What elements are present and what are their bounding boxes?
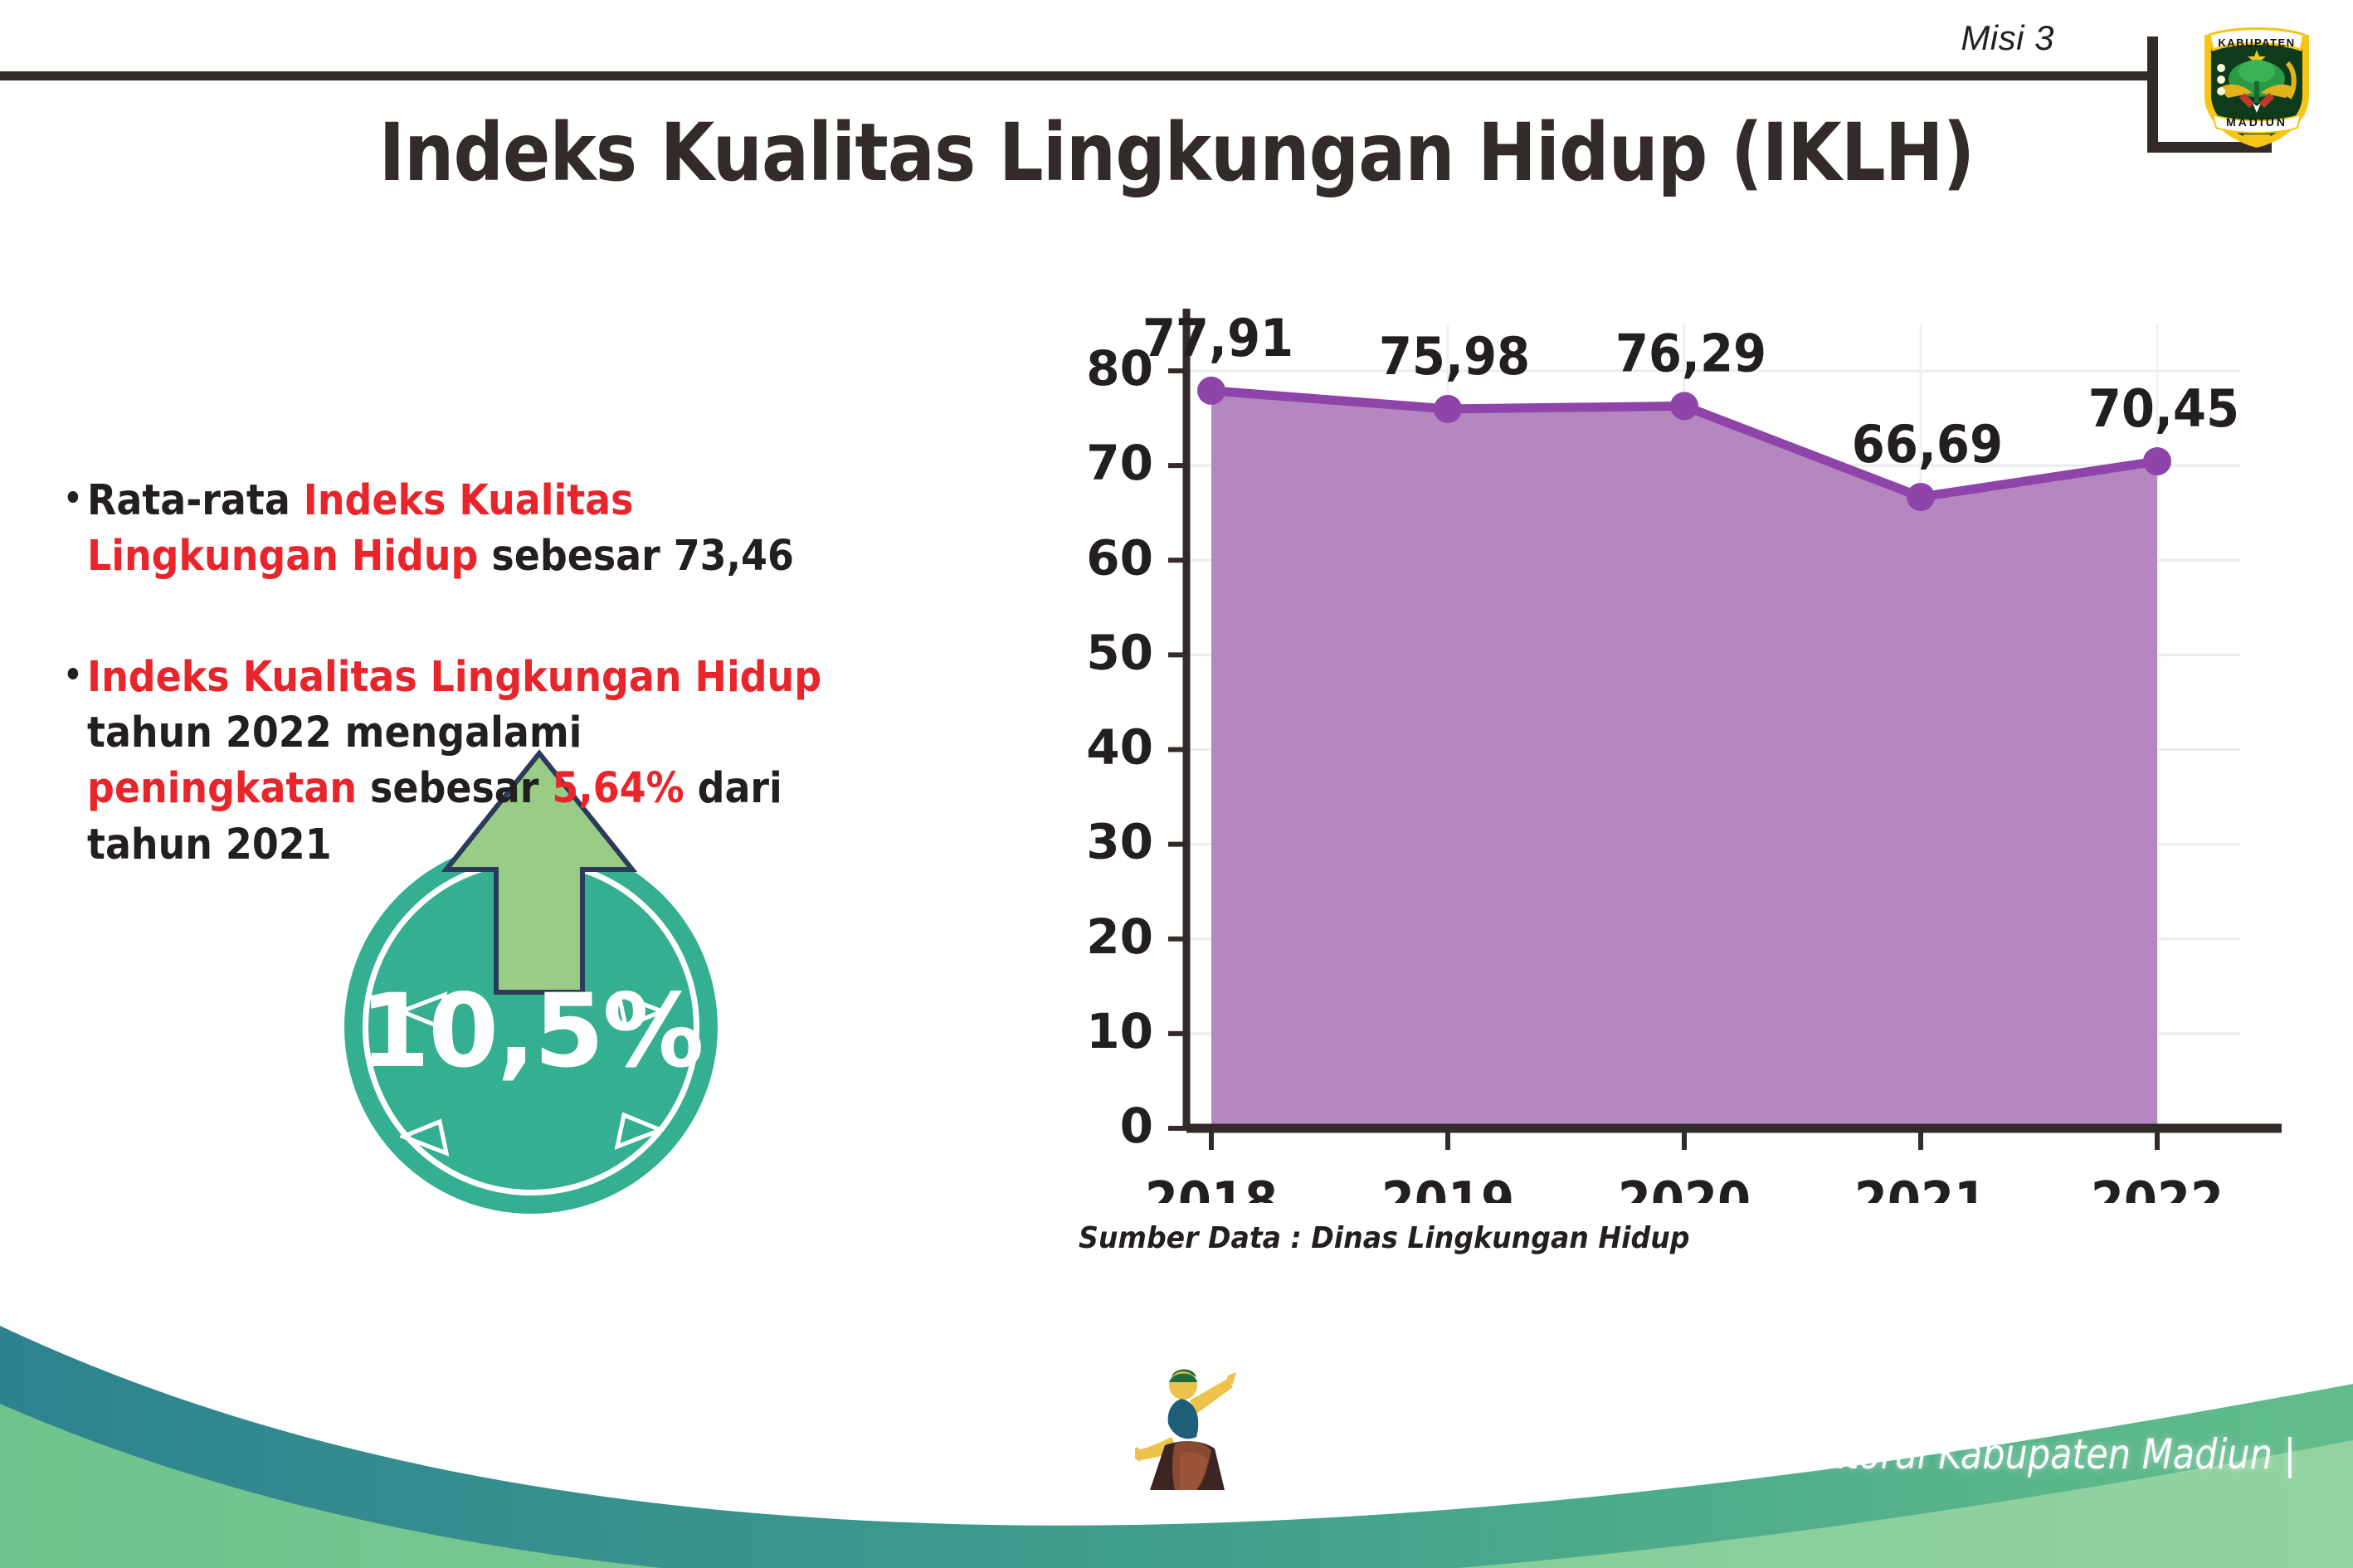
bullet-segment-red: Indeks Kualitas Lingkungan Hidup	[87, 653, 821, 702]
svg-text:50: 50	[1086, 624, 1153, 680]
svg-text:30: 30	[1086, 814, 1153, 870]
dancer-icon	[1135, 1351, 1243, 1508]
misi-label: Misi 3	[1961, 18, 2054, 58]
svg-text:77,91: 77,91	[1142, 309, 1293, 368]
bullet-text-average: Rata-rata Indeks Kualitas Lingkungan Hid…	[87, 476, 794, 581]
svg-text:40: 40	[1086, 719, 1153, 776]
bullet-segment-black: sebesar	[357, 764, 552, 813]
iklh-area-chart: 010203040506070802018201920202021202277,…	[979, 290, 2323, 1203]
chart-source-label: Sumber Data : Dinas Lingkungan Hidup	[1079, 1221, 1689, 1255]
svg-text:60: 60	[1086, 529, 1153, 586]
badge-value: 10,5%	[344, 972, 718, 1090]
triangle-arrow-icon	[614, 1112, 664, 1150]
svg-text:MADIUN: MADIUN	[2226, 115, 2287, 129]
bullet-text-change: Indeks Kualitas Lingkungan Hidup tahun 2…	[87, 653, 821, 869]
svg-text:75,98: 75,98	[1379, 327, 1530, 387]
svg-text:KABUPATEN: KABUPATEN	[2218, 37, 2295, 49]
svg-text:2021: 2021	[1854, 1171, 1987, 1203]
bullet-dot-icon	[68, 668, 79, 679]
svg-text:2022: 2022	[2091, 1171, 2224, 1203]
svg-text:76,29: 76,29	[1615, 324, 1766, 383]
bullet-dot-icon	[68, 491, 79, 503]
svg-text:20: 20	[1086, 908, 1153, 965]
svg-text:2019: 2019	[1381, 1171, 1514, 1203]
bullet-segment-red: 5,64%	[552, 764, 684, 813]
svg-text:10: 10	[1086, 1003, 1153, 1059]
header-frame-line	[0, 71, 2147, 80]
svg-text:2020: 2020	[1618, 1171, 1751, 1203]
bullet-item-change: Indeks Kualitas Lingkungan Hidup tahun 2…	[65, 650, 856, 873]
bullet-segment-red: peningkatan	[87, 764, 357, 813]
header-frame-vertical	[2147, 37, 2158, 153]
bullet-segment-black: Rata-rata	[87, 476, 304, 525]
bullet-segment-black: sebesar 73,46	[478, 532, 794, 581]
bullet-segment-black: tahun 2022 mengalami	[87, 709, 582, 757]
svg-text:2018: 2018	[1145, 1171, 1278, 1203]
svg-text:66,69: 66,69	[1852, 415, 2003, 475]
svg-text:0: 0	[1120, 1098, 1153, 1154]
bullet-list: Rata-rata Indeks Kualitas Lingkungan Hid…	[65, 473, 944, 873]
footer-text: Media Infografis Data Statistik Sektoral…	[1228, 1430, 2296, 1478]
bullet-item-average: Rata-rata Indeks Kualitas Lingkungan Hid…	[65, 473, 856, 585]
page-title: Indeks Kualitas Lingkungan Hidup (IKLH)	[141, 106, 2212, 199]
infographic-slide: Misi 3 KABUPATEN MADIUN Indeks Kuali	[0, 0, 2353, 1568]
svg-text:70,45: 70,45	[2088, 379, 2239, 439]
svg-text:70: 70	[1086, 435, 1153, 491]
kabupaten-madiun-crest-icon: KABUPATEN MADIUN	[2195, 17, 2319, 149]
triangle-arrow-icon	[400, 1118, 450, 1157]
